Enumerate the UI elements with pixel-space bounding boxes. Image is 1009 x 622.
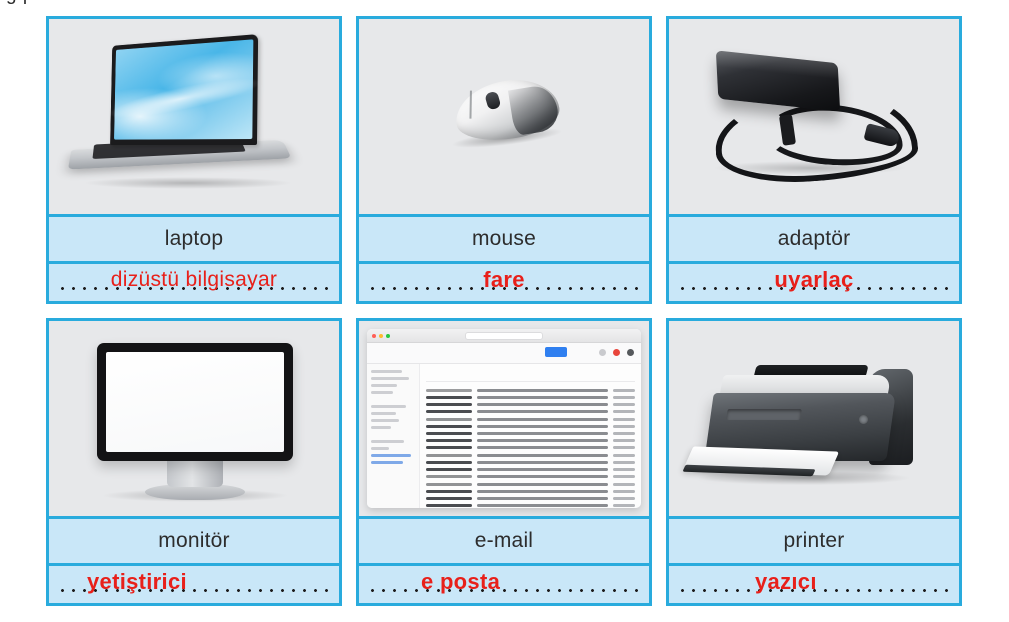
adapter-illustration [669, 19, 959, 214]
answer-align-wrap: yazıcı [669, 572, 959, 598]
avatar-icon [627, 349, 634, 356]
email-list-item [426, 460, 635, 464]
email-list-item [426, 439, 635, 443]
english-label-mouse: mouse [359, 214, 649, 261]
email-list-item [426, 475, 635, 479]
english-label-printer: printer [669, 516, 959, 563]
email-client-illustration [359, 321, 649, 516]
printer-illustration [669, 321, 959, 516]
maximize-icon [386, 334, 390, 338]
email-list-item [426, 482, 635, 486]
email-list-item [426, 453, 635, 457]
turkish-answer-mouse: fare [483, 267, 525, 293]
turkish-answer-printer: yazıcı [755, 569, 817, 595]
answer-row-monitor[interactable]: yetiştirici [49, 563, 339, 603]
email-list-item [426, 504, 635, 508]
email-list-item [426, 395, 635, 399]
monitor-screen [106, 352, 284, 452]
vocabulary-card-grid: laptop dizüstü bilgisayar mouse fare [46, 16, 978, 606]
turkish-answer-monitor: yetiştirici [87, 569, 187, 595]
answer-row-printer[interactable]: yazıcı [669, 563, 959, 603]
email-list-item [426, 468, 635, 472]
vocab-card-laptop[interactable]: laptop dizüstü bilgisayar [46, 16, 342, 304]
answer-align-wrap: uyarlaç [669, 270, 959, 296]
dotted-writing-line [367, 589, 641, 592]
email-list-item [426, 410, 635, 414]
vocab-card-printer[interactable]: printer yazıcı [666, 318, 962, 606]
vocab-card-mouse[interactable]: mouse fare [356, 16, 652, 304]
email-list-item [426, 446, 635, 450]
answer-align-wrap: fare [359, 270, 649, 296]
mouse-button-split [469, 91, 471, 119]
adapter-photo [669, 19, 959, 214]
email-list-item [426, 431, 635, 435]
email-sidebar [367, 364, 420, 508]
alert-icon [613, 349, 620, 356]
mouse-scroll-wheel [484, 91, 501, 111]
email-list-header [426, 370, 635, 382]
mouse-illustration [359, 19, 649, 214]
answer-align-wrap: e posta [359, 572, 649, 598]
close-icon [372, 334, 376, 338]
turkish-answer-email: e posta [421, 569, 500, 595]
laptop-illustration [49, 19, 339, 214]
answer-align-wrap: yetiştirici [49, 572, 339, 598]
email-toolbar [367, 343, 641, 364]
clipped-worksheet-heading: g p [6, 0, 34, 6]
adapter-brick [716, 50, 840, 111]
email-list-item [426, 497, 635, 501]
email-titlebar [367, 329, 641, 343]
email-list-item [426, 388, 635, 392]
monitor-illustration [49, 321, 339, 516]
vocab-card-monitor[interactable]: monitör yetiştirici [46, 318, 342, 606]
monitor-photo [49, 321, 339, 516]
printer-photo [669, 321, 959, 516]
monitor-bezel [97, 343, 293, 461]
english-label-monitor: monitör [49, 516, 339, 563]
laptop-wallpaper [114, 39, 253, 139]
minimize-icon [379, 334, 383, 338]
monitor-neck [167, 461, 223, 487]
printer-front-slot [726, 409, 802, 420]
vocab-card-adapter[interactable]: adaptör uyarlaç [666, 16, 962, 304]
gear-icon [599, 349, 606, 356]
answer-row-adapter[interactable]: uyarlaç [669, 261, 959, 301]
email-body [367, 364, 641, 508]
email-message-list [420, 364, 641, 508]
email-list-item [426, 489, 635, 493]
answer-row-laptop[interactable]: dizüstü bilgisayar [49, 261, 339, 301]
email-list-item [426, 424, 635, 428]
answer-row-email[interactable]: e posta [359, 563, 649, 603]
email-primary-button [545, 347, 567, 357]
email-list-item [426, 402, 635, 406]
mouse-photo [359, 19, 649, 214]
vocab-card-email[interactable]: e-mail e posta [356, 318, 652, 606]
answer-align-wrap: dizüstü bilgisayar [49, 271, 339, 295]
laptop-screen [110, 34, 258, 145]
english-label-email: e-mail [359, 516, 649, 563]
power-button-icon [859, 415, 868, 424]
email-list-item [426, 417, 635, 421]
email-window [367, 329, 641, 508]
turkish-answer-adapter: uyarlaç [774, 267, 853, 293]
email-screenshot [359, 321, 649, 516]
laptop-photo [49, 19, 339, 214]
answer-row-mouse[interactable]: fare [359, 261, 649, 301]
english-label-laptop: laptop [49, 214, 339, 261]
laptop-shadow [83, 177, 293, 189]
turkish-answer-laptop: dizüstü bilgisayar [111, 268, 277, 292]
email-address-bar [465, 332, 543, 340]
english-label-adapter: adaptör [669, 214, 959, 261]
